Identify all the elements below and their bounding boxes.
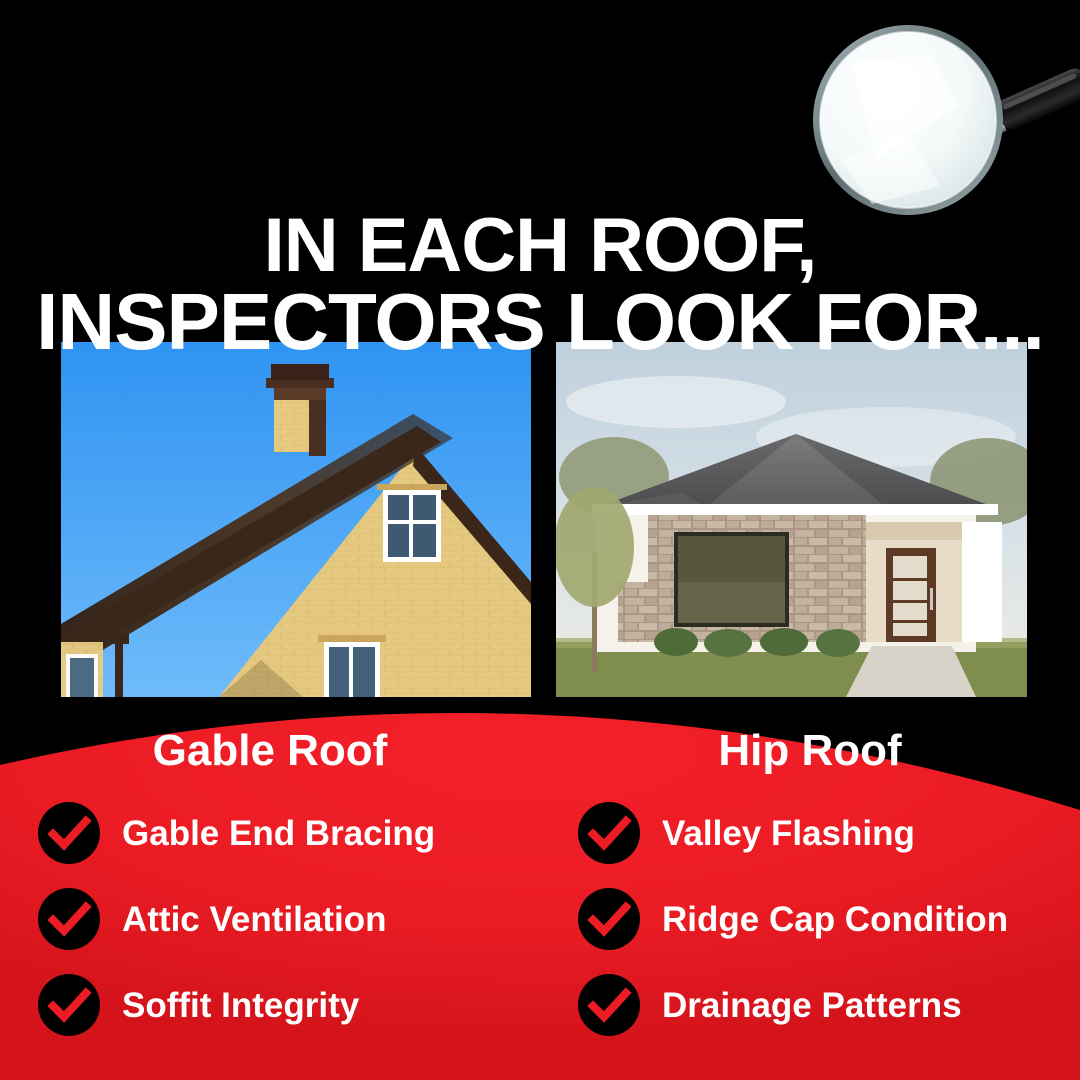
list-item-label: Ridge Cap Condition: [662, 902, 1008, 937]
check-circle-icon: [578, 802, 640, 864]
check-circle-icon: [578, 974, 640, 1036]
list-item: Valley Flashing: [578, 802, 1080, 864]
gable-roof-photo: [61, 342, 531, 697]
list-item-label: Soffit Integrity: [122, 988, 359, 1023]
infographic-poster: IN EACH ROOF, INSPECTORS LOOK FOR...: [0, 0, 1080, 1080]
check-circle-icon: [578, 888, 640, 950]
magnifying-glass-icon: [780, 10, 1080, 230]
gable-roof-title: Gable Roof: [38, 726, 540, 776]
list-item: Gable End Bracing: [38, 802, 540, 864]
list-item: Attic Ventilation: [38, 888, 540, 950]
hip-roof-column: Hip Roof Valley Flashing: [540, 726, 1080, 1080]
hip-roof-title: Hip Roof: [578, 726, 1080, 776]
list-item: Ridge Cap Condition: [578, 888, 1080, 950]
headline-line-1: IN EACH ROOF,: [0, 209, 1080, 283]
page-title: IN EACH ROOF, INSPECTORS LOOK FOR...: [0, 209, 1080, 360]
list-item-label: Valley Flashing: [662, 816, 915, 851]
check-circle-icon: [38, 802, 100, 864]
list-item: Drainage Patterns: [578, 974, 1080, 1036]
headline-line-2: INSPECTORS LOOK FOR...: [0, 283, 1080, 361]
hip-roof-checklist: Valley Flashing Ridge Cap Condition: [578, 802, 1080, 1036]
list-item-label: Attic Ventilation: [122, 902, 386, 937]
gable-roof-column: Gable Roof Gable End Bracing: [0, 726, 540, 1080]
list-item: Soffit Integrity: [38, 974, 540, 1036]
check-circle-icon: [38, 974, 100, 1036]
check-circle-icon: [38, 888, 100, 950]
list-item-label: Drainage Patterns: [662, 988, 962, 1023]
gable-roof-checklist: Gable End Bracing Attic Ventilation: [38, 802, 540, 1036]
hip-roof-photo: [556, 342, 1027, 697]
list-item-label: Gable End Bracing: [122, 816, 435, 851]
checklist-columns: Gable Roof Gable End Bracing: [0, 726, 1080, 1080]
